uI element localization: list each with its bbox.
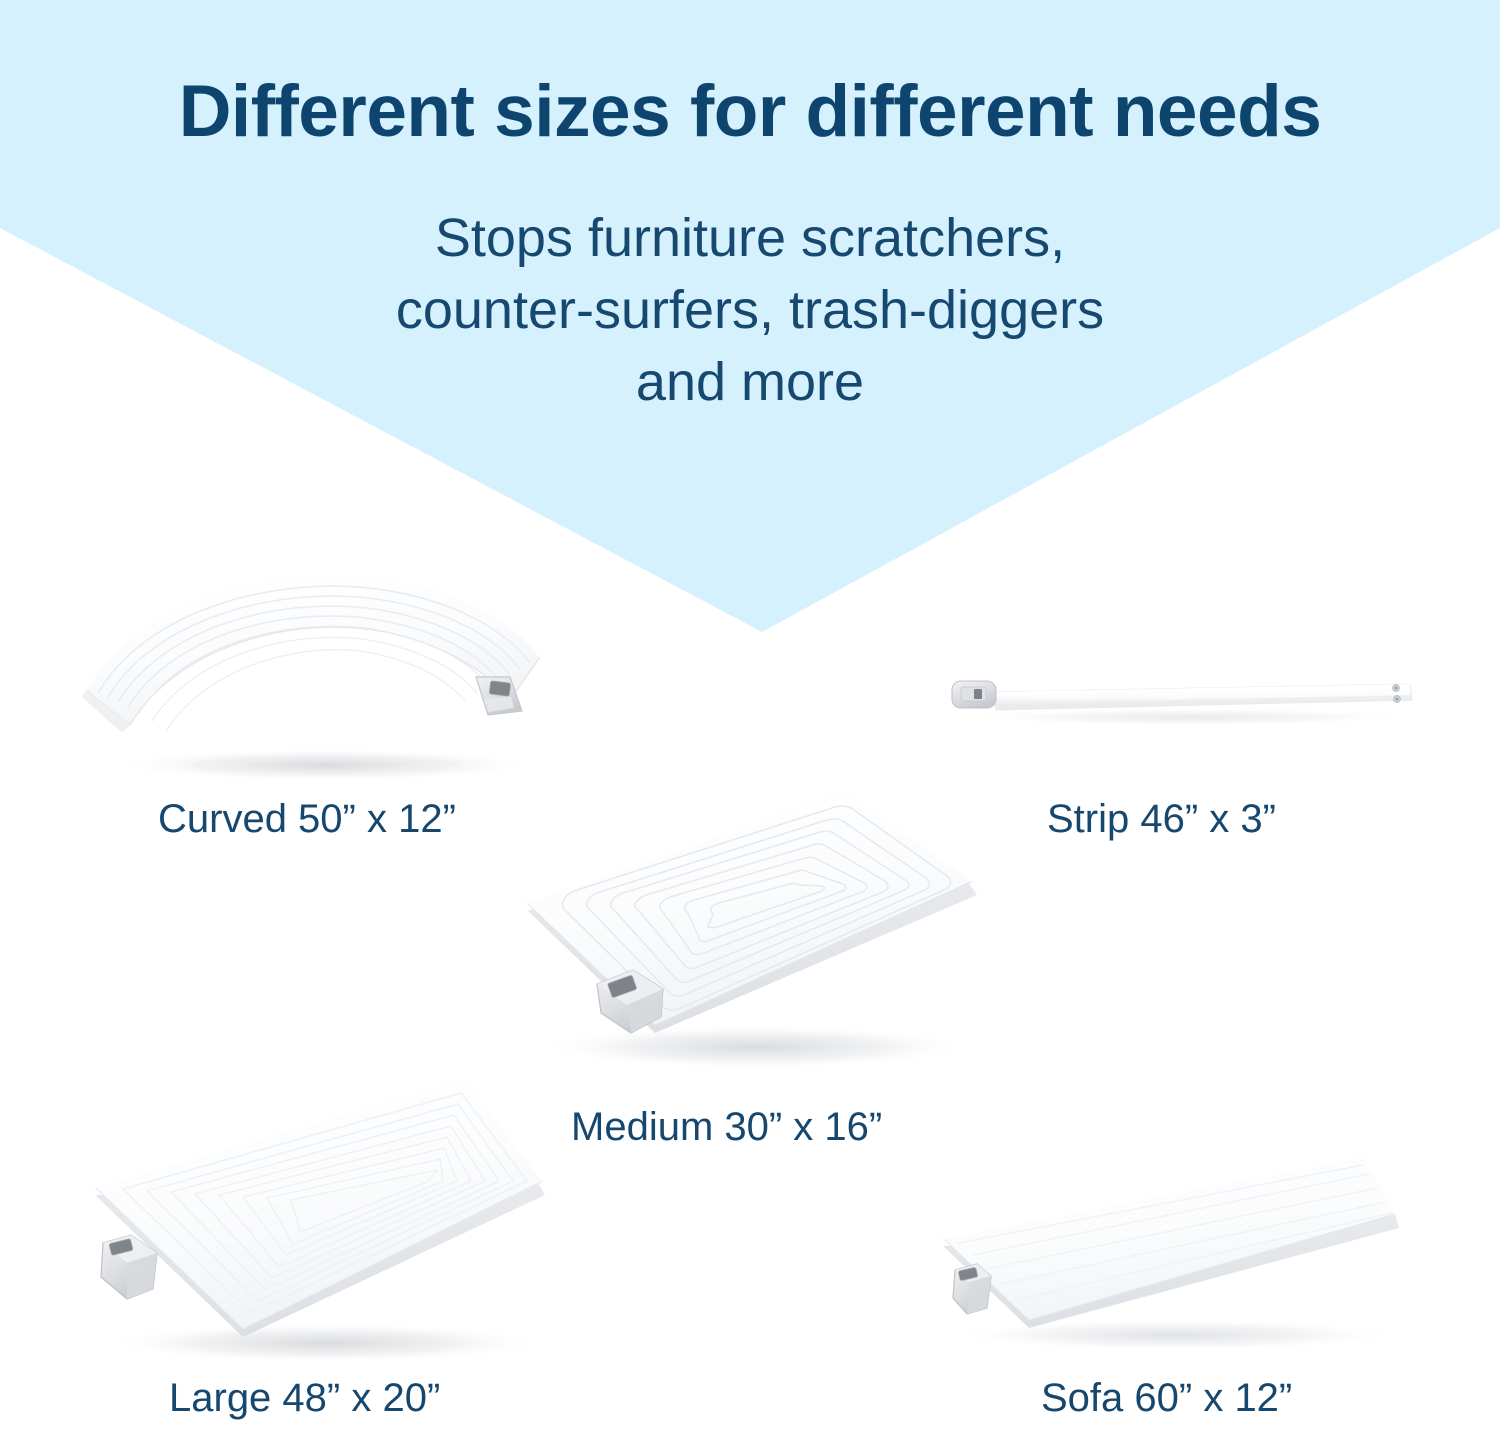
infographic-page: Different sizes for different needs Stop… — [0, 0, 1500, 1431]
product-image-sofa — [925, 1150, 1415, 1360]
control-module-icon — [952, 681, 996, 708]
caption-curved: Curved 50” x 12” — [158, 797, 456, 842]
caption-large: Large 48” x 20” — [169, 1376, 440, 1421]
subtitle-line-1: Stops furniture scratchers, — [0, 203, 1500, 275]
subtitle-line-2: counter-surfers, trash-diggers — [0, 275, 1500, 347]
page-title: Different sizes for different needs — [0, 74, 1500, 151]
control-module-icon — [953, 1264, 991, 1314]
product-image-strip — [930, 655, 1430, 745]
product-image-curved — [70, 565, 570, 785]
page-subtitle: Stops furniture scratchers, counter-surf… — [0, 203, 1500, 418]
caption-medium: Medium 30” x 16” — [571, 1105, 882, 1150]
product-image-large — [75, 1075, 570, 1365]
subtitle-line-3: and more — [0, 347, 1500, 419]
product-image-medium — [505, 785, 995, 1075]
caption-sofa: Sofa 60” x 12” — [1041, 1376, 1292, 1421]
caption-strip: Strip 46” x 3” — [1047, 797, 1276, 842]
